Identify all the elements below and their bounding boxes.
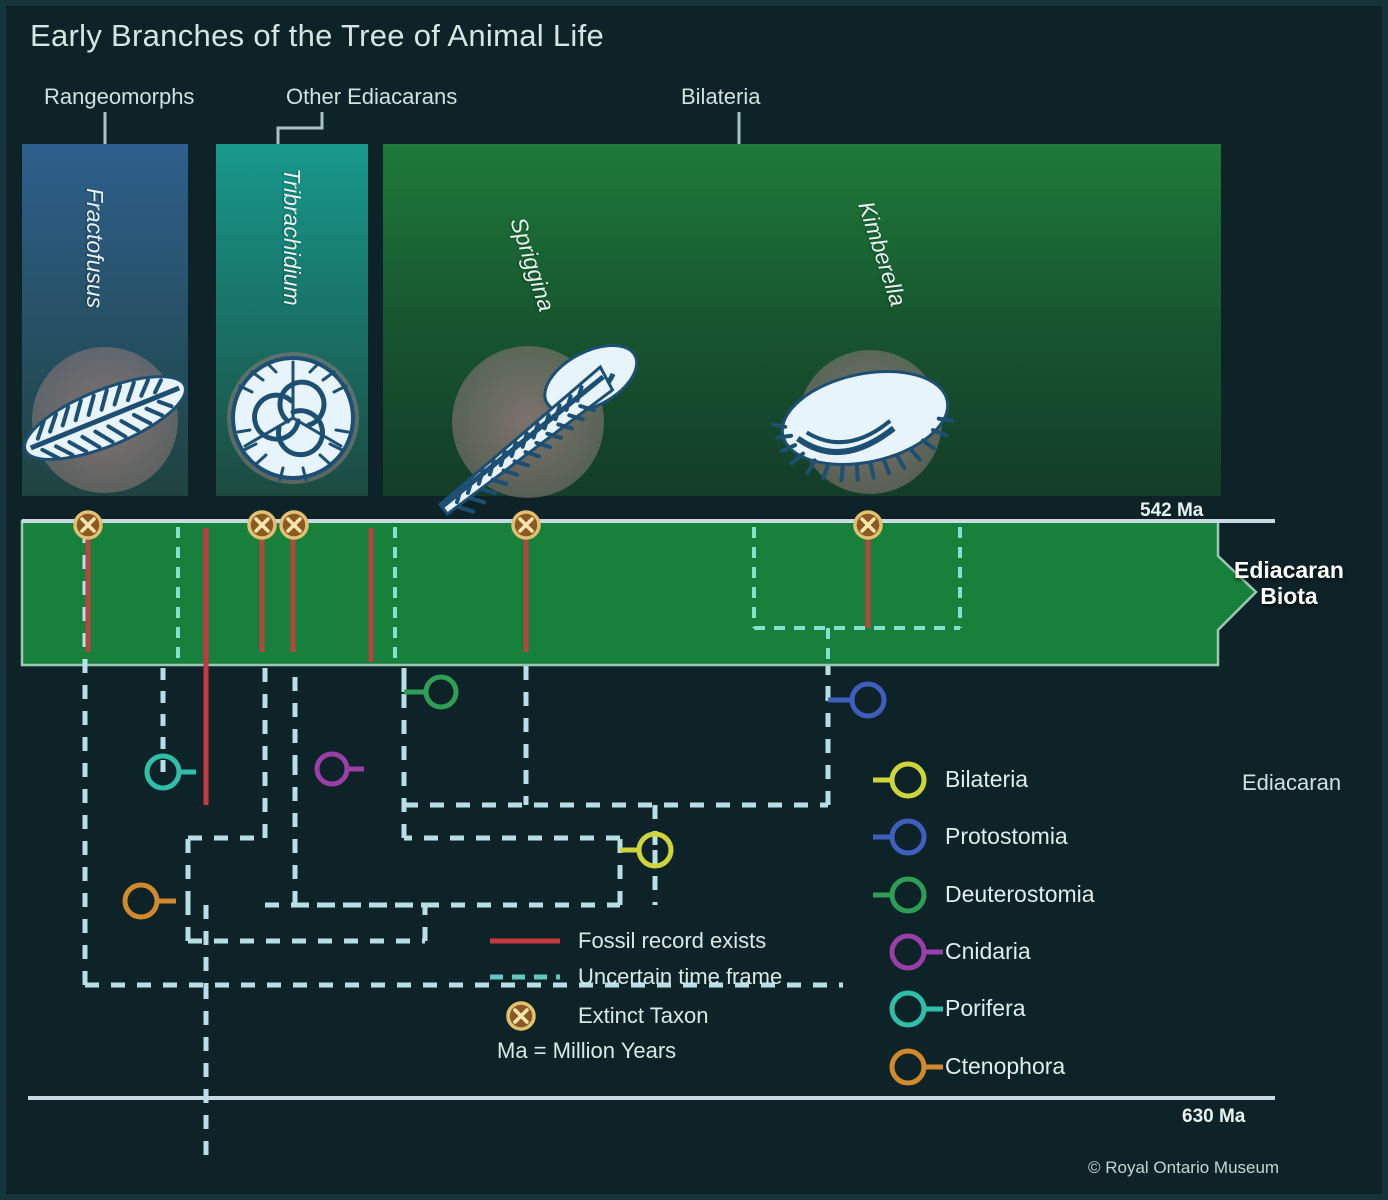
clade-legend-marks bbox=[873, 764, 943, 1083]
fossil-tribrachidium-icon bbox=[227, 352, 359, 484]
clade-legend-icon-ctenophora bbox=[892, 1051, 943, 1083]
tree-clade-nodes bbox=[125, 677, 884, 917]
clade-legend-icon-porifera bbox=[892, 993, 943, 1025]
node-porifera bbox=[147, 756, 196, 788]
clade-legend-icon-bilateria bbox=[873, 764, 924, 796]
clade-legend-label-protostomia: Protostomia bbox=[945, 823, 1068, 850]
legend-label-uncertain: Uncertain time frame bbox=[578, 964, 782, 990]
node-cnidaria bbox=[317, 754, 364, 784]
species-label-fractofusus: Fractofusus bbox=[81, 188, 108, 308]
species-label-tribrachidium: Tribrachidium bbox=[278, 168, 305, 306]
legend-label-ma: Ma = Million Years bbox=[497, 1038, 676, 1064]
label-connectors bbox=[105, 112, 739, 146]
extinct-marker-spriggina bbox=[513, 512, 539, 538]
legend-label-extinct: Extinct Taxon bbox=[578, 1003, 708, 1029]
ediacaran-biota-label-line1: Ediacaran bbox=[1234, 558, 1344, 584]
node-bilateria bbox=[620, 834, 671, 866]
legend-label-fossil: Fossil record exists bbox=[578, 928, 766, 954]
extinct-marker-ediacaran-b bbox=[281, 512, 307, 538]
diagram-root: Early Branches of the Tree of Animal Lif… bbox=[0, 0, 1388, 1200]
clade-legend-icon-cnidaria bbox=[892, 936, 943, 968]
clade-legend-label-porifera: Porifera bbox=[945, 995, 1026, 1022]
ediacaran-biota-label-line2: Biota bbox=[1234, 584, 1344, 610]
node-deuterostomia bbox=[404, 677, 456, 707]
clade-legend-label-cnidaria: Cnidaria bbox=[945, 938, 1031, 965]
clade-legend-icon-protostomia bbox=[873, 821, 924, 853]
species-panels bbox=[22, 144, 1221, 496]
era-label-ediacaran: Ediacaran bbox=[1242, 770, 1341, 796]
label-630-ma: 630 Ma bbox=[1182, 1106, 1245, 1128]
extinct-marker-fractofusus bbox=[75, 512, 101, 538]
node-protostomia bbox=[828, 684, 884, 716]
extinct-marker-ediacaran-a bbox=[249, 512, 275, 538]
symbol-legend-marks bbox=[490, 941, 560, 1029]
extinct-marker-kimberella bbox=[855, 512, 881, 538]
credit-line: © Royal Ontario Museum bbox=[1088, 1158, 1279, 1178]
clade-legend-label-ctenophora: Ctenophora bbox=[945, 1053, 1065, 1080]
clade-legend-label-deuterostomia: Deuterostomia bbox=[945, 881, 1095, 908]
node-ctenophora bbox=[125, 885, 176, 917]
clade-legend-label-bilateria: Bilateria bbox=[945, 766, 1028, 793]
diagram-stage: Early Branches of the Tree of Animal Lif… bbox=[0, 0, 1388, 1200]
label-542-ma: 542 Ma bbox=[1140, 500, 1203, 522]
clade-legend-icon-deuterostomia bbox=[873, 879, 924, 911]
legend-extinct-icon bbox=[508, 1003, 534, 1029]
